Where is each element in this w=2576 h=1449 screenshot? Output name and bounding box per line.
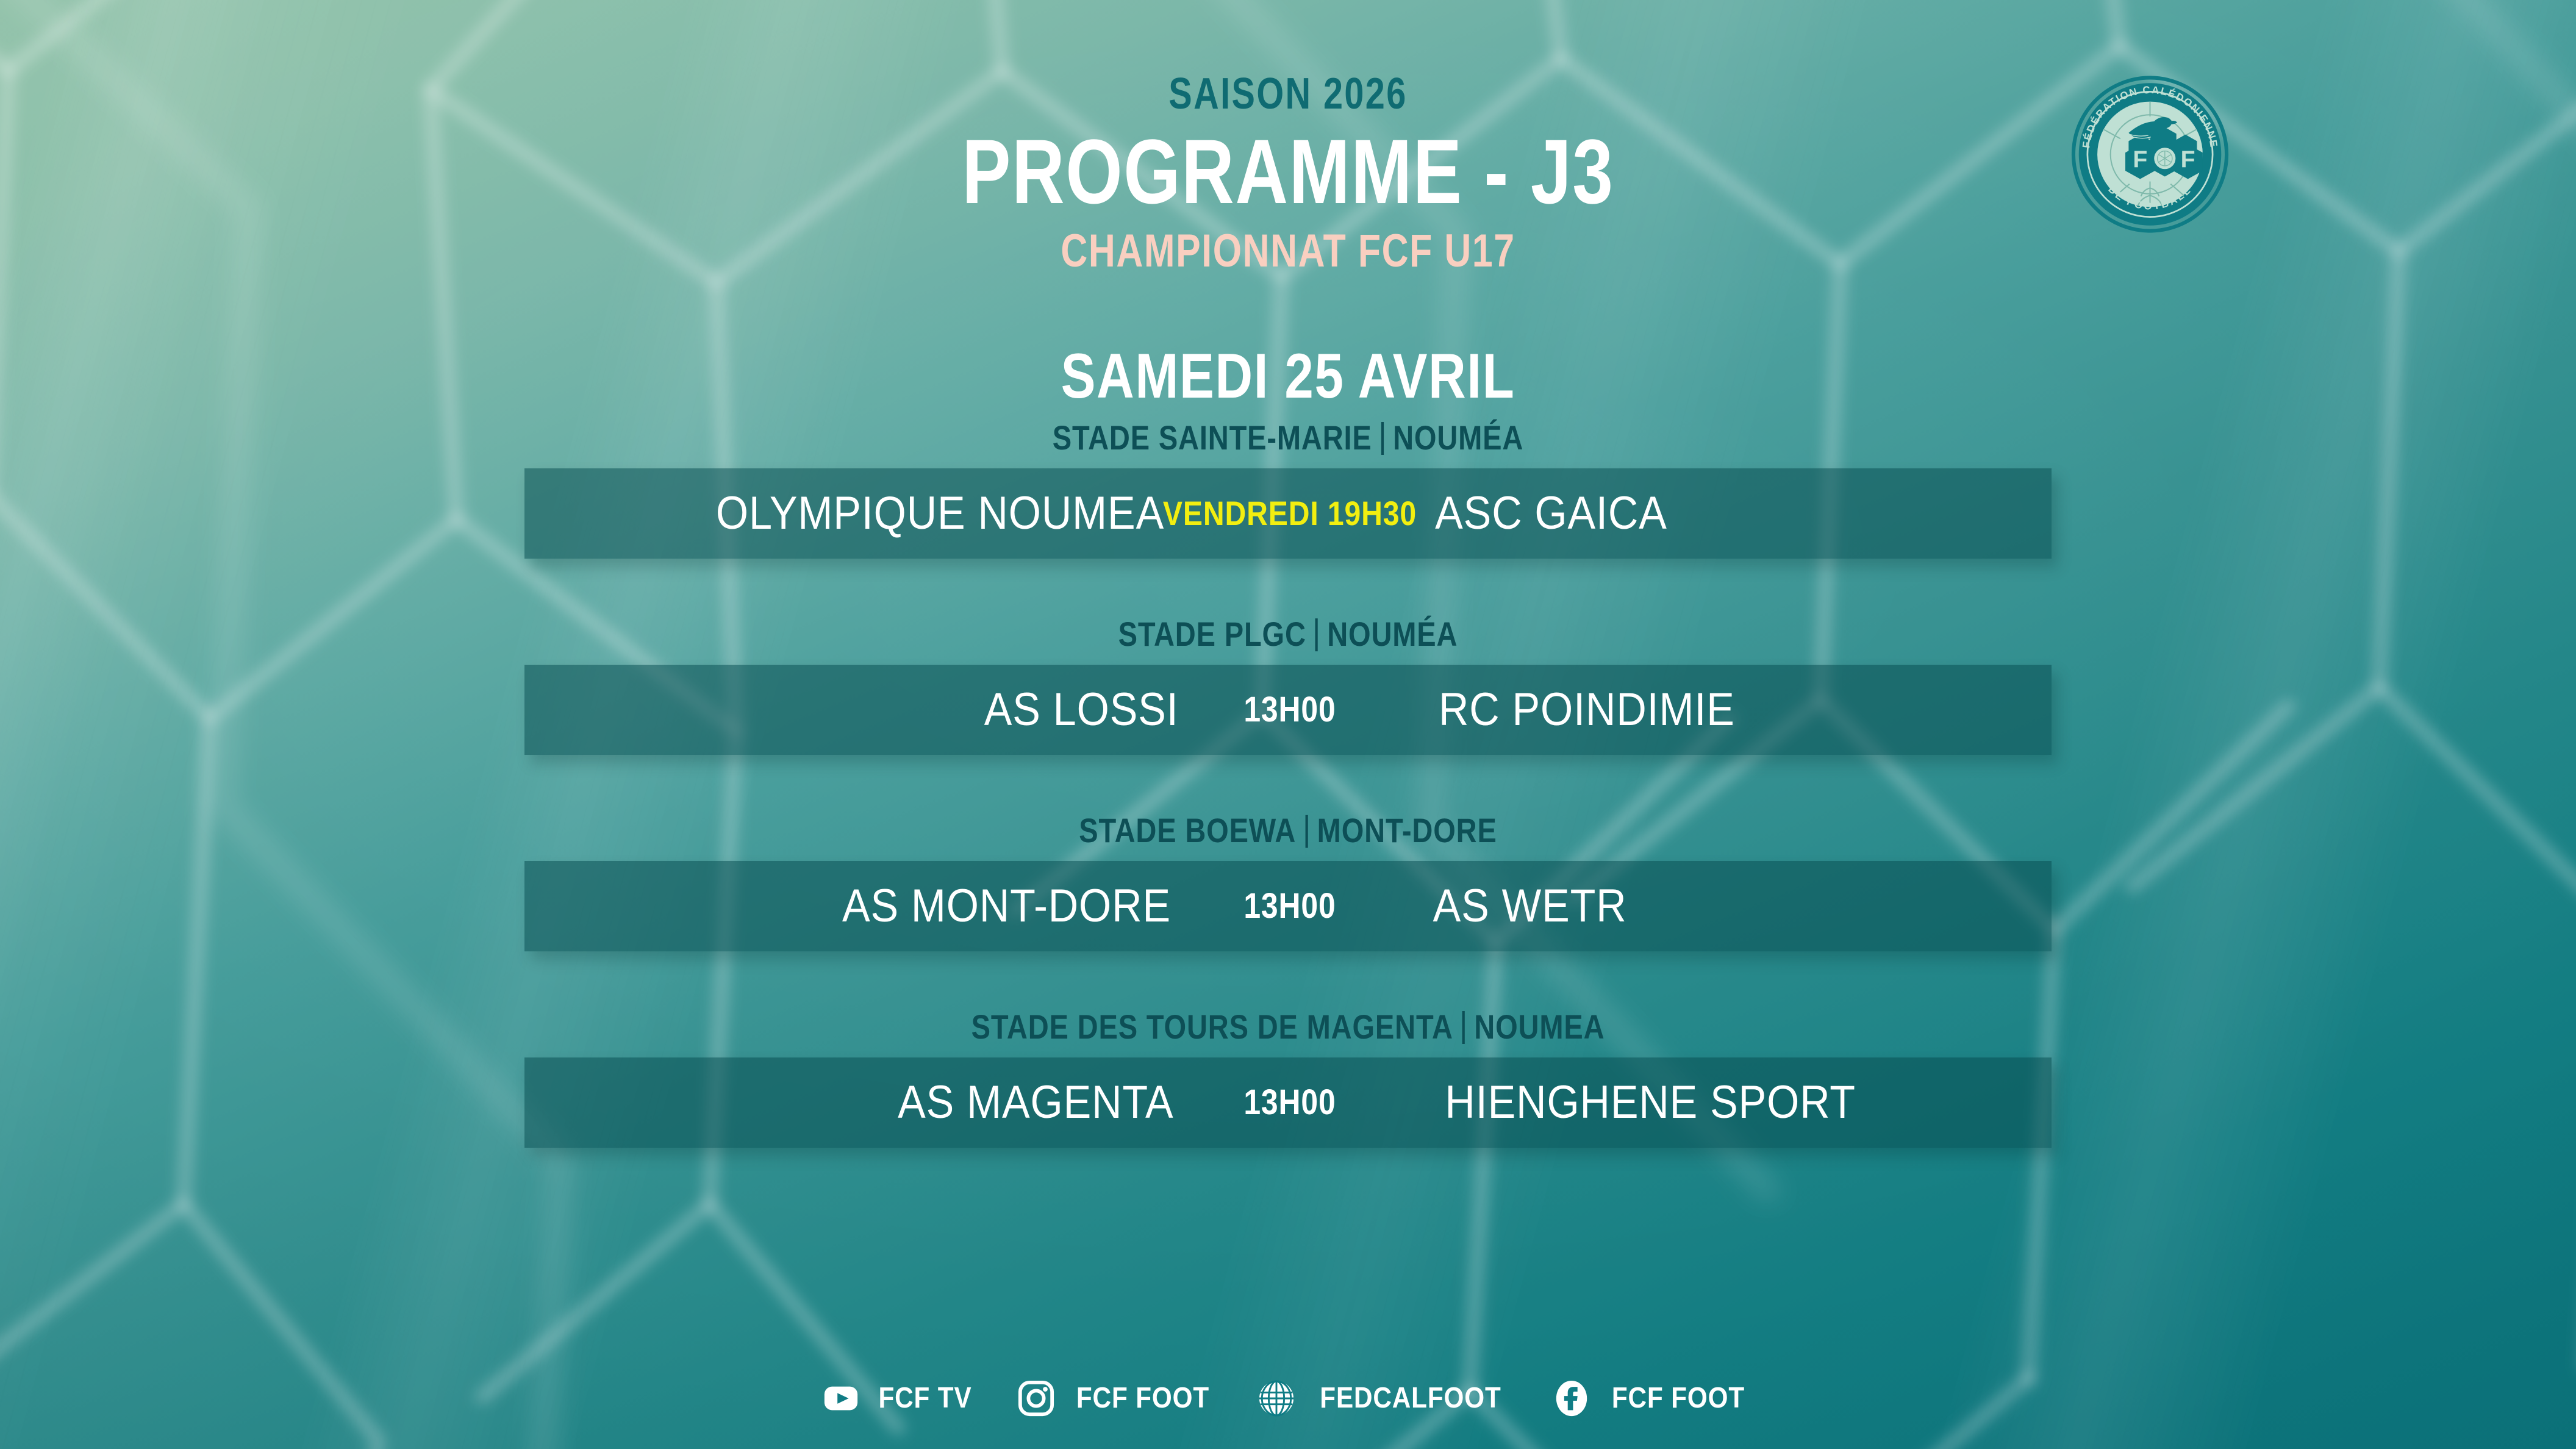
social-link-instagram[interactable]: FCF FOOT	[1017, 1379, 1218, 1417]
home-team-name: AS MAGENTA	[898, 1079, 1173, 1126]
social-label: FCF FOOT	[1612, 1384, 1745, 1413]
matchday-heading: SAMEDI 25 AVRIL	[232, 345, 2344, 408]
away-team-cell: AS WETR	[1390, 861, 2052, 951]
match-list: STADE SAINTE-MARIENOUMÉA OLYMPIQUE NOUME…	[0, 421, 2576, 1148]
row-spacer	[0, 559, 2576, 617]
venue-line: STADE DES TOURS DE MAGENTANOUMEA	[206, 1010, 2370, 1044]
svg-text:F: F	[2181, 147, 2195, 173]
venue-separator	[1315, 618, 1318, 651]
social-label: FCF TV	[879, 1384, 972, 1413]
fcf-crest-logo: F F	[2036, 72, 2264, 237]
venue-city: NOUMEA	[1474, 1007, 1605, 1046]
away-team-name: AS WETR	[1433, 883, 1627, 929]
kickoff-cell: 13H00	[1189, 665, 1390, 755]
match-row: STADE BOEWAMONT-DORE AS MONT-DORE 13H00 …	[0, 814, 2576, 951]
venue-line: STADE BOEWAMONT-DORE	[206, 814, 2370, 848]
globe-icon	[1258, 1379, 1295, 1417]
home-team-cell: AS MAGENTA	[524, 1057, 1189, 1148]
social-link-facebook[interactable]: FCF FOOT	[1553, 1379, 1754, 1417]
venue-city: NOUMÉA	[1393, 418, 1523, 457]
home-team-cell: AS MONT-DORE	[524, 861, 1189, 951]
svg-text:F: F	[2133, 147, 2147, 173]
venue-city: MONT-DORE	[1317, 811, 1497, 850]
home-team-cell: OLYMPIQUE NOUMEA	[524, 468, 1189, 559]
match-bar[interactable]: AS MAGENTA 13H00 HIENGHENE SPORT	[524, 1057, 2052, 1148]
away-team-name: ASC GAICA	[1435, 490, 1667, 537]
venue-separator	[1462, 1011, 1465, 1044]
venue-stadium: STADE SAINTE-MARIE	[1053, 418, 1372, 457]
venue-line: STADE SAINTE-MARIENOUMÉA	[206, 421, 2370, 455]
competition-label: CHAMPIONNAT FCF U17	[257, 228, 2318, 274]
venue-stadium: STADE BOEWA	[1079, 811, 1296, 850]
home-team-name: AS MONT-DORE	[842, 883, 1171, 929]
venue-separator	[1381, 422, 1384, 455]
match-row: STADE PLGCNOUMÉA AS LOSSI 13H00 RC POIND…	[0, 617, 2576, 755]
instagram-icon	[1017, 1379, 1055, 1417]
venue-separator	[1305, 815, 1308, 848]
away-team-name: HIENGHENE SPORT	[1445, 1079, 1856, 1126]
social-label: FCF FOOT	[1076, 1384, 1209, 1413]
kickoff-time: 13H00	[1243, 1085, 1336, 1120]
away-team-cell: HIENGHENE SPORT	[1390, 1057, 2052, 1148]
page-title: PROGRAMME - J3	[257, 126, 2318, 217]
match-row: STADE DES TOURS DE MAGENTANOUMEA AS MAGE…	[0, 1010, 2576, 1148]
social-footer: FCF TV FCF FOOT FEDCALFOOT	[0, 1379, 2576, 1417]
row-spacer	[0, 951, 2576, 1010]
social-link-youtube[interactable]: FCF TV	[822, 1379, 978, 1417]
match-bar[interactable]: AS LOSSI 13H00 RC POINDIMIE	[524, 665, 2052, 755]
away-team-name: RC POINDIMIE	[1439, 687, 1735, 733]
home-team-name: AS LOSSI	[984, 687, 1178, 733]
venue-stadium: STADE DES TOURS DE MAGENTA	[971, 1007, 1453, 1046]
away-team-cell: RC POINDIMIE	[1390, 665, 2052, 755]
kickoff-time: 13H00	[1243, 889, 1336, 924]
home-team-cell: AS LOSSI	[524, 665, 1189, 755]
match-bar[interactable]: OLYMPIQUE NOUMEA VENDREDI 19H30 ASC GAIC…	[524, 468, 2052, 559]
match-row: STADE SAINTE-MARIENOUMÉA OLYMPIQUE NOUME…	[0, 421, 2576, 559]
poster-canvas: SAISON 2026 PROGRAMME - J3 CHAMPIONNAT F…	[0, 0, 2576, 1449]
row-spacer	[0, 755, 2576, 814]
kickoff-cell: 13H00	[1189, 1057, 1390, 1148]
facebook-icon	[1553, 1379, 1590, 1417]
youtube-icon	[822, 1379, 860, 1417]
kickoff-time: VENDREDI 19H30	[1163, 496, 1417, 531]
away-team-cell: ASC GAICA	[1390, 468, 2052, 559]
venue-line: STADE PLGCNOUMÉA	[206, 617, 2370, 651]
social-link-website[interactable]: FEDCALFOOT	[1258, 1379, 1514, 1417]
home-team-name: OLYMPIQUE NOUMEA	[716, 490, 1164, 537]
kickoff-time: 13H00	[1243, 692, 1336, 728]
social-label: FEDCALFOOT	[1320, 1384, 1501, 1413]
venue-city: NOUMÉA	[1327, 615, 1458, 653]
season-label: SAISON 2026	[257, 72, 2318, 116]
kickoff-cell: 13H00	[1189, 861, 1390, 951]
match-bar[interactable]: AS MONT-DORE 13H00 AS WETR	[524, 861, 2052, 951]
poster-header: SAISON 2026 PROGRAMME - J3 CHAMPIONNAT F…	[0, 0, 2576, 317]
venue-stadium: STADE PLGC	[1118, 615, 1306, 653]
kickoff-cell: VENDREDI 19H30	[1189, 468, 1390, 559]
